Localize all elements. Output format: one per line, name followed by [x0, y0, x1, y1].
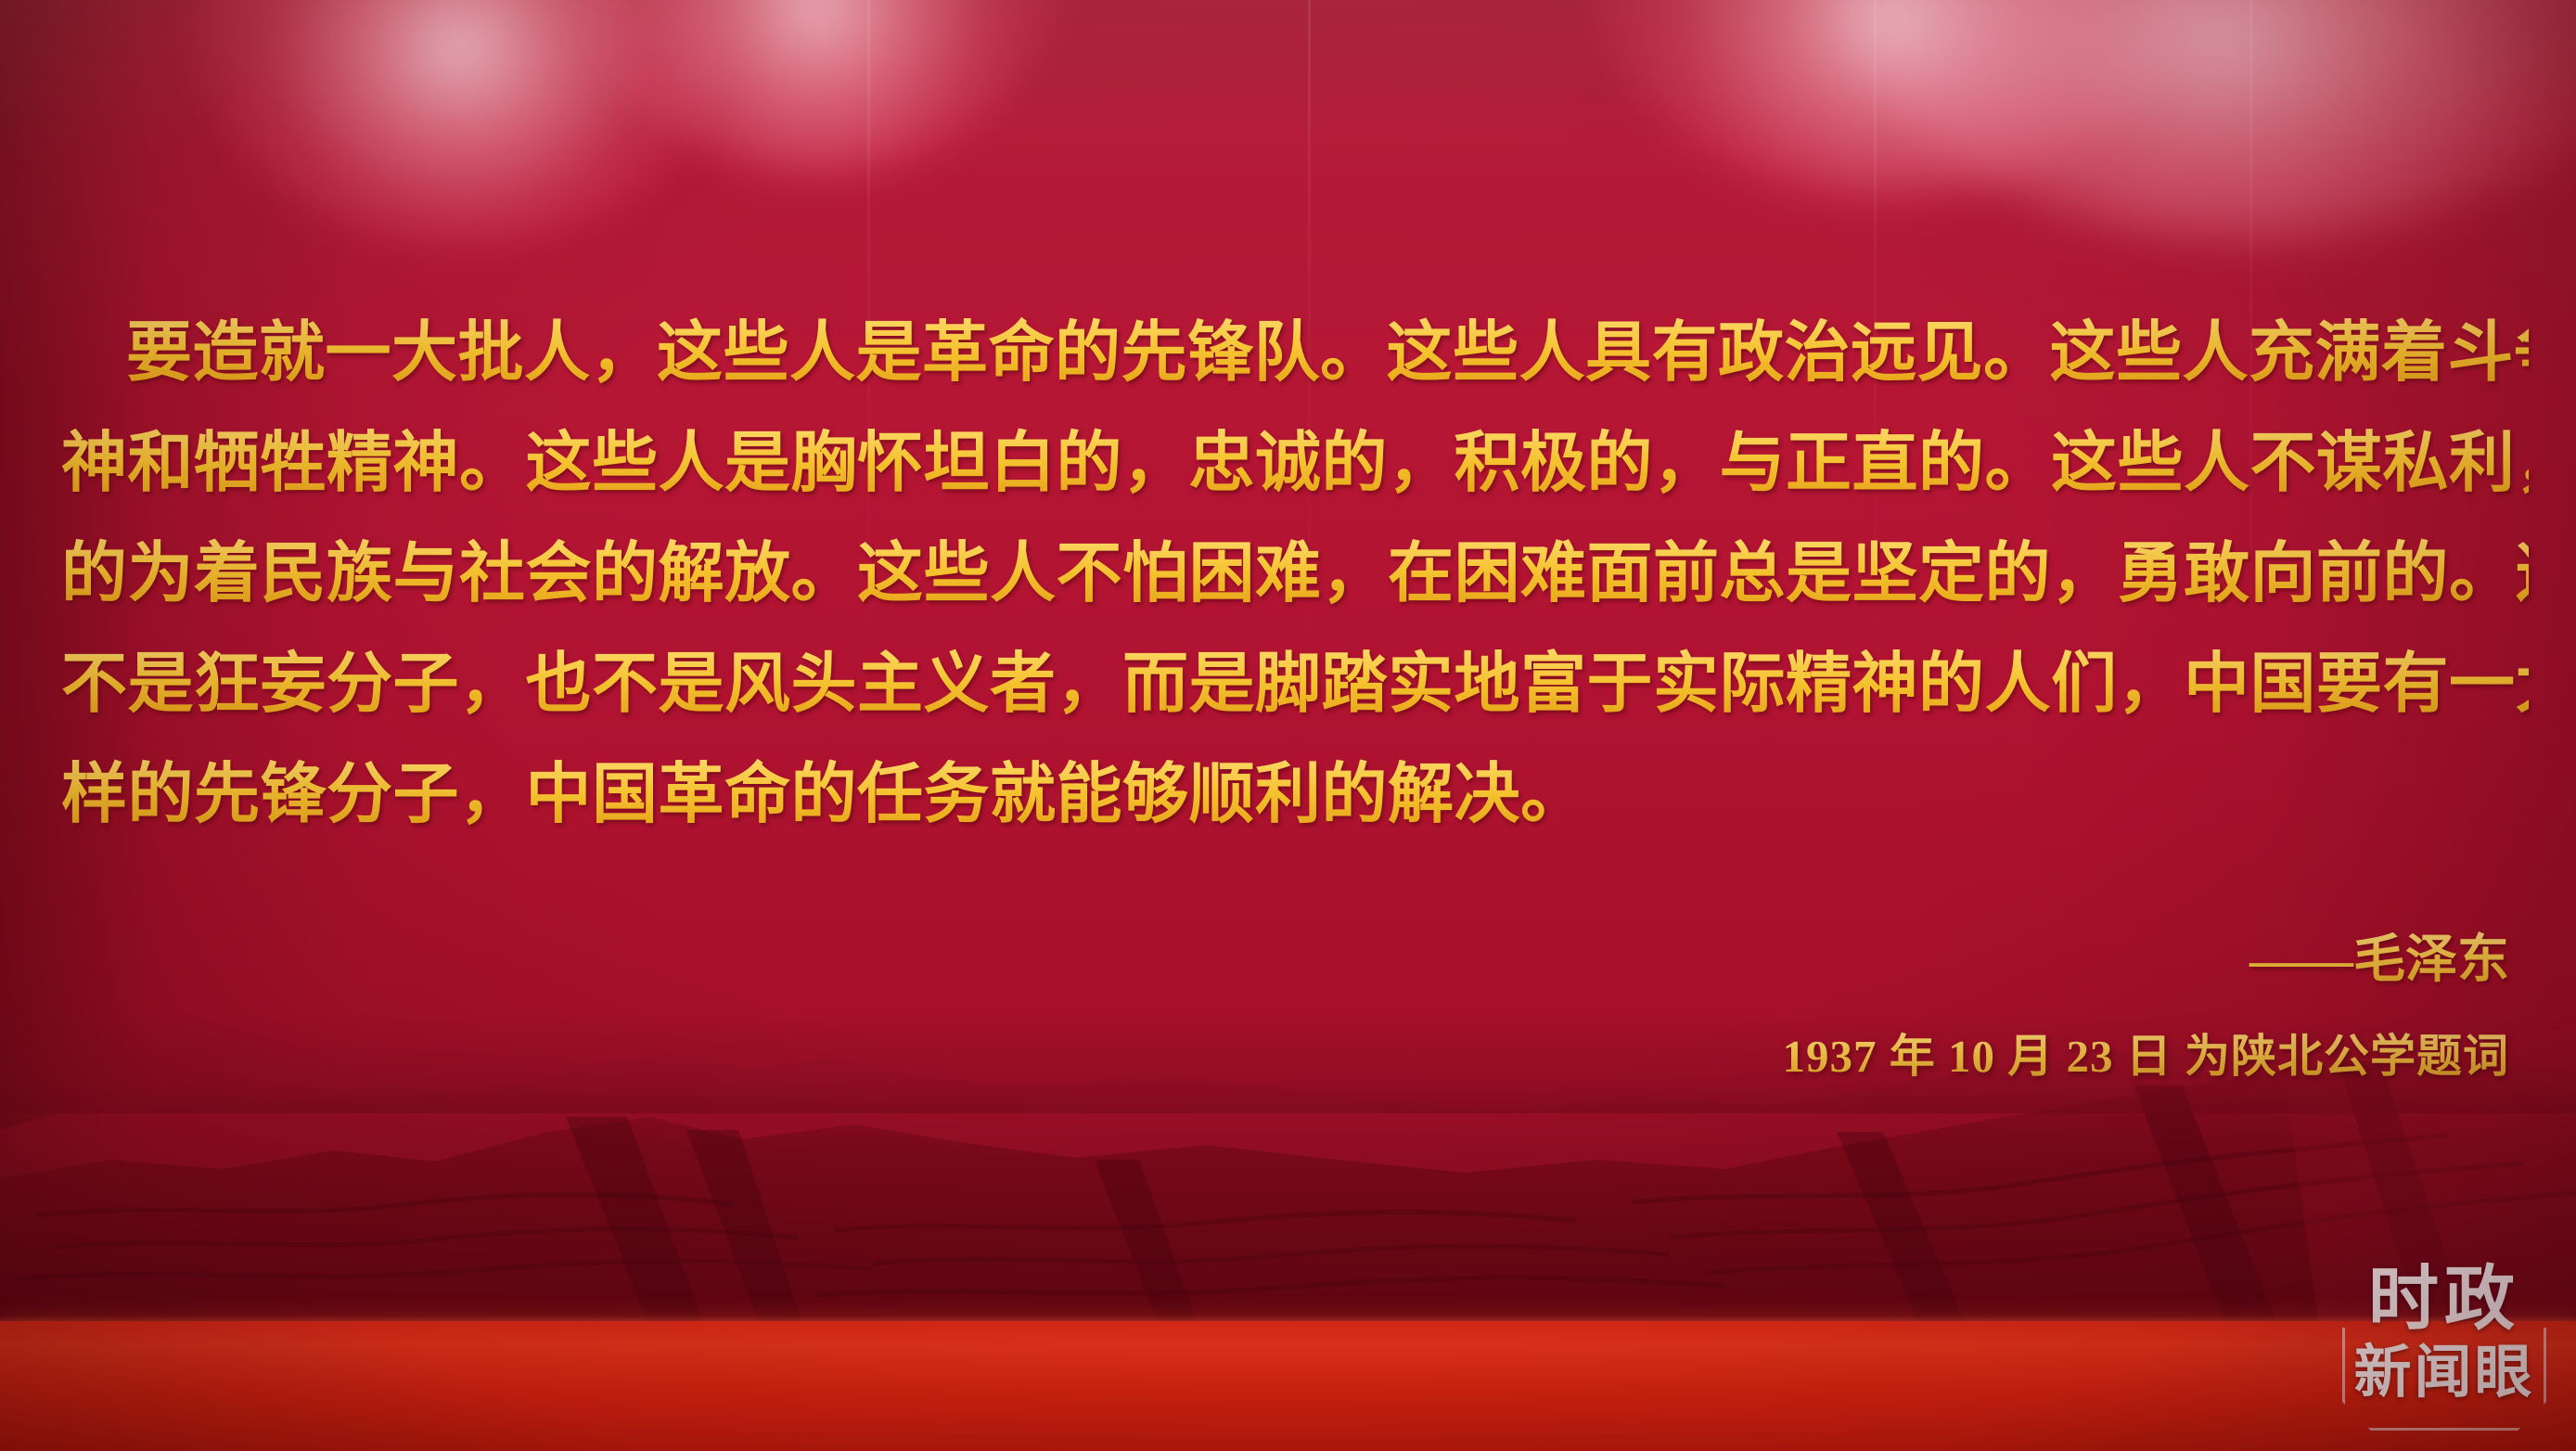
- watermark-line-1: 时政: [2337, 1260, 2552, 1340]
- inscription-line-4: 不是狂妄分子，也不是风头主义者，而是脚踏实地富于实际精神的人们，中国要有一大群这: [61, 630, 2529, 740]
- exhibition-wall-scene: 要造就一大批人，这些人是革命的先锋队。这些人具有政治远见。这些人充满着斗争精 神…: [0, 0, 2576, 1451]
- broadcaster-watermark: 时政 新闻眼: [2337, 1258, 2552, 1431]
- attribution-block: ——毛泽东 1937 年 10 月 23 日 为陕北公学题词: [1782, 924, 2509, 1087]
- inscription-text-block: 要造就一大批人，这些人是革命的先锋队。这些人具有政治远见。这些人充满着斗争精 神…: [61, 299, 2529, 851]
- watermark-line-2: 新闻眼: [2337, 1340, 2552, 1406]
- inscription-dateline: 1937 年 10 月 23 日 为陕北公学题词: [1782, 1026, 2509, 1087]
- author-signature: ——毛泽东: [1782, 924, 2509, 996]
- inscription-line-3: 的为着民族与社会的解放。这些人不怕困难，在困难面前总是坚定的，勇敢向前的。这些人: [61, 520, 2529, 630]
- inscription-line-2: 神和牺牲精神。这些人是胸怀坦白的，忠诚的，积极的，与正直的。这些人不谋私利，唯一: [61, 409, 2529, 520]
- inscription-line-1: 要造就一大批人，这些人是革命的先锋队。这些人具有政治远见。这些人充满着斗争精: [61, 299, 2529, 409]
- floor-ledge: [0, 1321, 2576, 1451]
- inscription-line-5: 样的先锋分子，中国革命的任务就能够顺利的解决。: [61, 740, 2529, 851]
